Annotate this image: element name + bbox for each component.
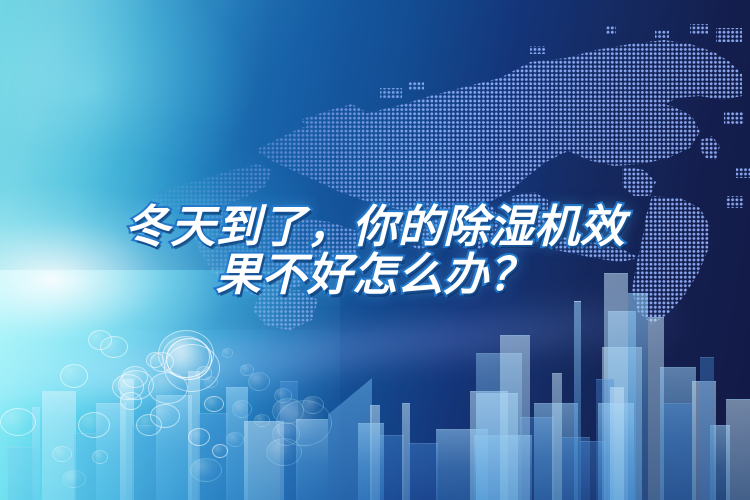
bubble [88,330,112,350]
bubble [232,400,252,418]
bubble [274,388,292,403]
bubble [118,370,154,400]
bubble [212,444,228,458]
bubble [78,412,110,438]
poster-banner: 冬天到了，你的除湿机效 果不好怎么办？ [0,0,750,500]
bubble [0,408,36,436]
bubble [248,372,270,391]
bubble [190,458,222,482]
bubble [302,396,324,414]
bubble [254,414,270,427]
bubble [150,352,174,372]
bubble [272,422,300,446]
bubble [188,428,210,446]
bubble [62,470,86,488]
bubble [52,446,72,462]
bubble [136,414,162,436]
bubble [204,396,224,412]
bubble [222,348,233,358]
bubble [92,450,108,464]
bubble [226,432,244,447]
bubble-group [0,0,750,500]
bubble [60,364,88,388]
bubble [204,376,218,388]
